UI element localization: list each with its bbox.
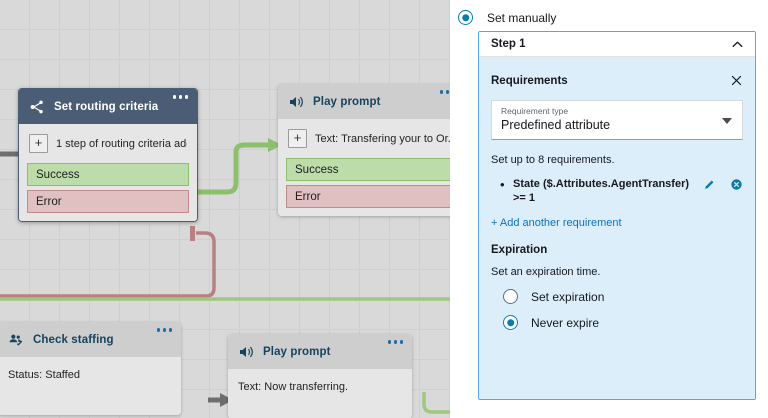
set-manually-label: Set manually [487,11,556,25]
expiration-subtitle: Set an expiration time. [491,266,743,278]
people-check-icon [8,332,24,348]
node-row-text: Status: Staffed [0,363,181,383]
bullet-icon: • [500,177,509,191]
branch-success[interactable]: Success [286,158,450,181]
node-add-row[interactable]: + 1 step of routing criteria add... [19,130,197,159]
step-1-title: Step 1 [491,38,526,50]
more-options-icon[interactable] [157,328,173,332]
remove-circle-icon[interactable] [730,178,743,191]
node-title: Check staffing [33,334,114,346]
speaker-icon [288,94,304,110]
requirement-type-value: Predefined attribute [501,117,733,133]
set-manually-radio[interactable] [458,10,473,25]
add-another-requirement-link[interactable]: + Add another requirement [491,217,743,229]
node-row-text: 1 step of routing criteria add... [56,138,187,150]
requirements-title: Requirements [491,75,568,87]
node-header[interactable]: Play prompt [278,84,450,119]
plus-icon[interactable]: + [288,129,307,148]
branch-error[interactable]: Error [27,190,189,213]
pencil-icon[interactable] [703,178,716,191]
step-1-container: Step 1 Requirements Requirement type Pre… [478,31,756,400]
set-expiration-radio-row[interactable]: Set expiration [491,289,743,304]
node-title: Play prompt [313,96,381,108]
never-expire-radio-row[interactable]: Never expire [491,315,743,330]
never-expire-label: Never expire [531,316,599,330]
node-title: Play prompt [263,346,331,358]
edge-error-routing [0,226,214,296]
speaker-icon [238,344,254,360]
requirement-list-item: • State ($.Attributes.AgentTransfer) >= … [491,177,743,205]
step-1-header[interactable]: Step 1 [479,32,755,57]
close-icon[interactable] [730,74,743,87]
connect-flow-designer: Set routing criteria + 1 step of routing… [0,0,768,418]
expiration-title: Expiration [491,244,743,256]
set-manually-radio-row[interactable]: Set manually [450,0,768,25]
more-options-icon[interactable] [440,90,451,94]
flow-node-set-routing-criteria[interactable]: Set routing criteria + 1 step of routing… [18,88,198,222]
properties-panel: Set manually Step 1 Requirements Require… [450,0,768,418]
branch-error[interactable]: Error [286,185,450,208]
flow-node-play-prompt-1[interactable]: Play prompt + Text: Transfering your to … [278,84,450,216]
chevron-up-icon[interactable] [731,38,744,51]
share-branch-icon [29,99,45,115]
plus-icon[interactable]: + [29,134,48,153]
node-title: Set routing criteria [54,101,158,113]
never-expire-radio[interactable] [503,315,518,330]
edge-green-corner-bottom [424,392,450,412]
requirements-section-header: Requirements [491,57,743,87]
set-expiration-radio[interactable] [503,289,518,304]
node-header[interactable]: Set routing criteria [19,89,197,124]
node-add-row[interactable]: + Text: Transfering your to Or... [278,125,450,154]
node-body: + Text: Transfering your to Or... Succes… [278,119,450,216]
flow-node-check-staffing[interactable]: Check staffing Status: Staffed [0,322,181,415]
requirements-hint: Set up to 8 requirements. [491,154,743,166]
node-header[interactable]: Play prompt [228,334,412,369]
requirement-text-wrap: • State ($.Attributes.AgentTransfer) >= … [491,177,703,205]
requirement-text: State ($.Attributes.AgentTransfer) >= 1 [513,177,691,205]
requirement-type-label: Requirement type [501,106,733,117]
more-options-icon[interactable] [388,340,404,344]
node-row-text: Text: Now transferring. [228,375,412,395]
node-body: Status: Staffed [0,357,181,415]
set-expiration-label: Set expiration [531,290,604,304]
node-header[interactable]: Check staffing [0,322,181,357]
edge-success-routing-to-prompt [190,138,282,201]
step-1-body: Requirements Requirement type Predefined… [479,57,755,399]
flow-canvas[interactable]: Set routing criteria + 1 step of routing… [0,0,450,418]
caret-down-icon[interactable] [722,118,732,124]
requirement-type-select[interactable]: Requirement type Predefined attribute [491,100,743,140]
node-body: + 1 step of routing criteria add... Succ… [19,124,197,221]
more-options-icon[interactable] [173,95,189,99]
node-body: Text: Now transferring. [228,369,412,418]
node-row-text: Text: Transfering your to Or... [315,133,450,145]
requirement-actions [703,177,743,191]
branch-success[interactable]: Success [27,163,189,186]
flow-node-play-prompt-2[interactable]: Play prompt Text: Now transferring. [228,334,412,418]
